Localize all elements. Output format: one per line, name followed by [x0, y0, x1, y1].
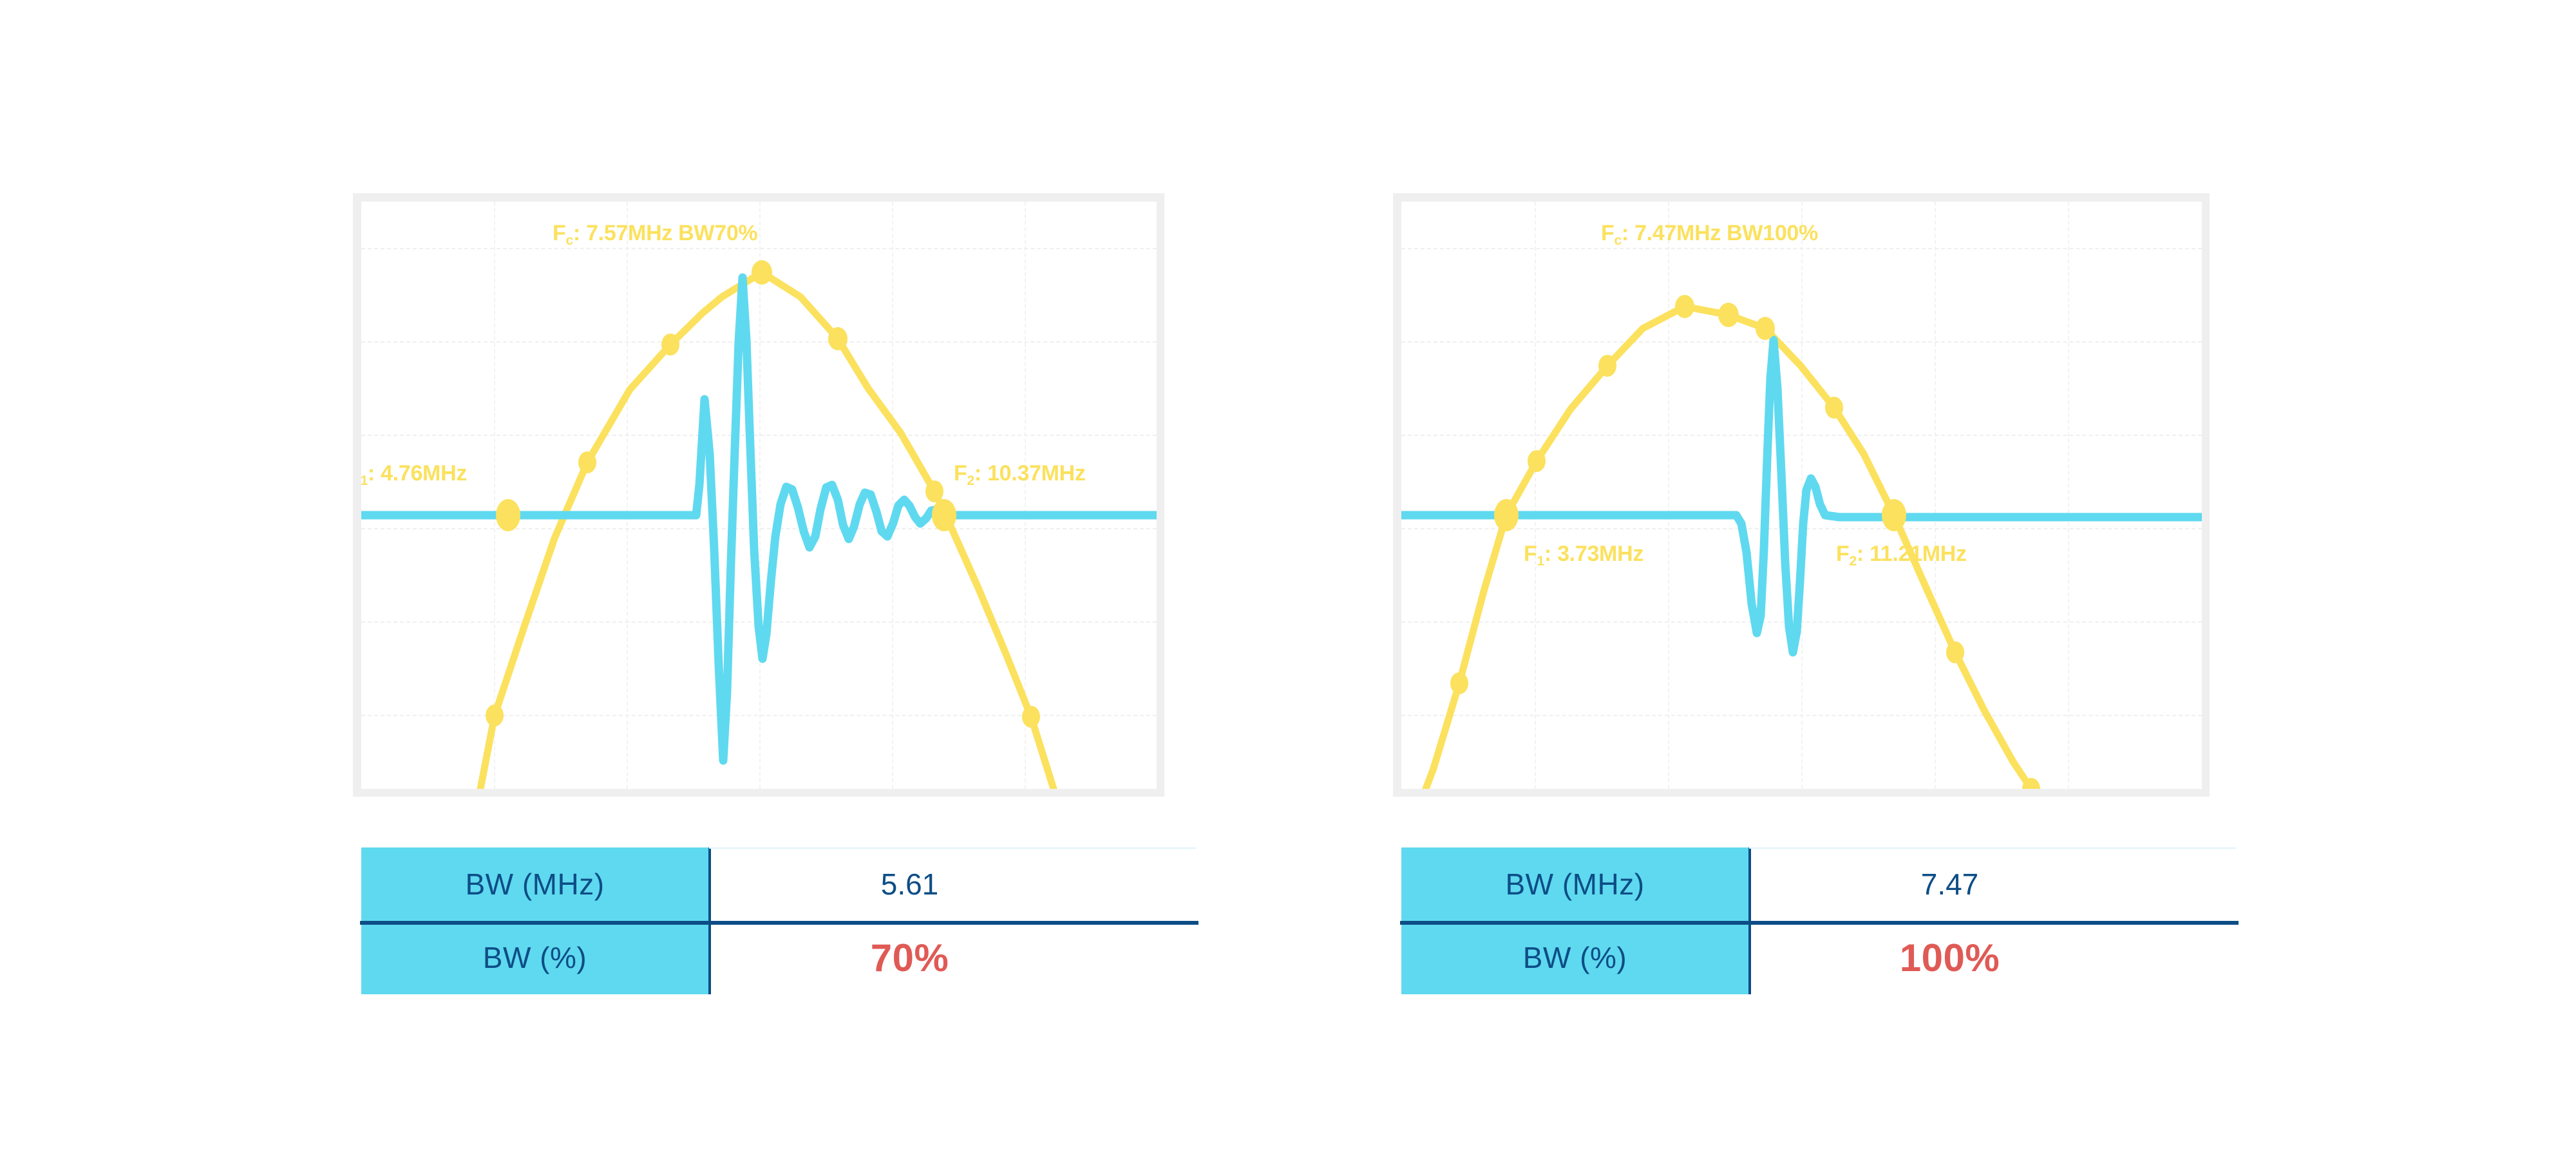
bw-table-left: BW (MHz) 5.61 BW (%) 70%	[361, 847, 1179, 994]
chart-curves-left	[361, 202, 1157, 789]
table-row-label: BW (%)	[1401, 921, 1751, 994]
table-row-value: 100%	[1751, 921, 2219, 994]
plot-area-left: Fc: 7.57MHz BW70% F1: 4.76MHz F2: 10.37M…	[361, 202, 1157, 789]
chart-curves-right	[1401, 202, 2202, 789]
annotation-f1-left: F1: 4.76MHz	[361, 461, 467, 486]
table-divider-rule	[1400, 921, 2239, 925]
waveform-curve-cyan	[361, 278, 1157, 761]
table-row-value: 7.47	[1751, 847, 2219, 921]
panel-left: Fc: 7.57MHz BW70% F1: 4.76MHz F2: 10.37M…	[353, 193, 1164, 797]
table-row-value: 5.61	[711, 847, 1179, 921]
plot-area-right: Fc: 7.47MHz BW100% F1: 3.73MHz F2: 11.21…	[1401, 202, 2202, 789]
panel-right: Fc: 7.47MHz BW100% F1: 3.73MHz F2: 11.21…	[1393, 193, 2210, 797]
table-divider-rule	[360, 921, 1198, 925]
table-row: BW (MHz) 5.61	[361, 847, 1179, 921]
bw-table-right: BW (MHz) 7.47 BW (%) 100%	[1401, 847, 2219, 994]
table-row: BW (%) 70%	[361, 921, 1179, 994]
annotation-center-frequency-right: Fc: 7.47MHz BW100%	[1601, 221, 1818, 246]
annotation-f2-left: F2: 10.37MHz	[954, 461, 1086, 486]
table-top-rule	[1749, 847, 2236, 849]
table-row: BW (MHz) 7.47	[1401, 847, 2219, 921]
table-top-rule	[709, 847, 1196, 849]
table-row: BW (%) 100%	[1401, 921, 2219, 994]
chart-frame-left: Fc: 7.57MHz BW70% F1: 4.76MHz F2: 10.37M…	[353, 193, 1164, 797]
table-row-value: 70%	[711, 921, 1179, 994]
table-row-label: BW (%)	[361, 921, 711, 994]
annotation-center-frequency-left: Fc: 7.57MHz BW70%	[553, 221, 757, 246]
table-row-label: BW (MHz)	[1401, 847, 1751, 921]
spectrum-curve-yellow	[458, 272, 1070, 789]
table-row-label: BW (MHz)	[361, 847, 711, 921]
chart-frame-right: Fc: 7.47MHz BW100% F1: 3.73MHz F2: 11.21…	[1393, 193, 2210, 797]
annotation-f2-right: F2: 11.21MHz	[1836, 542, 1967, 567]
annotation-f1-right: F1: 3.73MHz	[1524, 542, 1643, 567]
waveform-curve-cyan	[1401, 340, 2202, 652]
